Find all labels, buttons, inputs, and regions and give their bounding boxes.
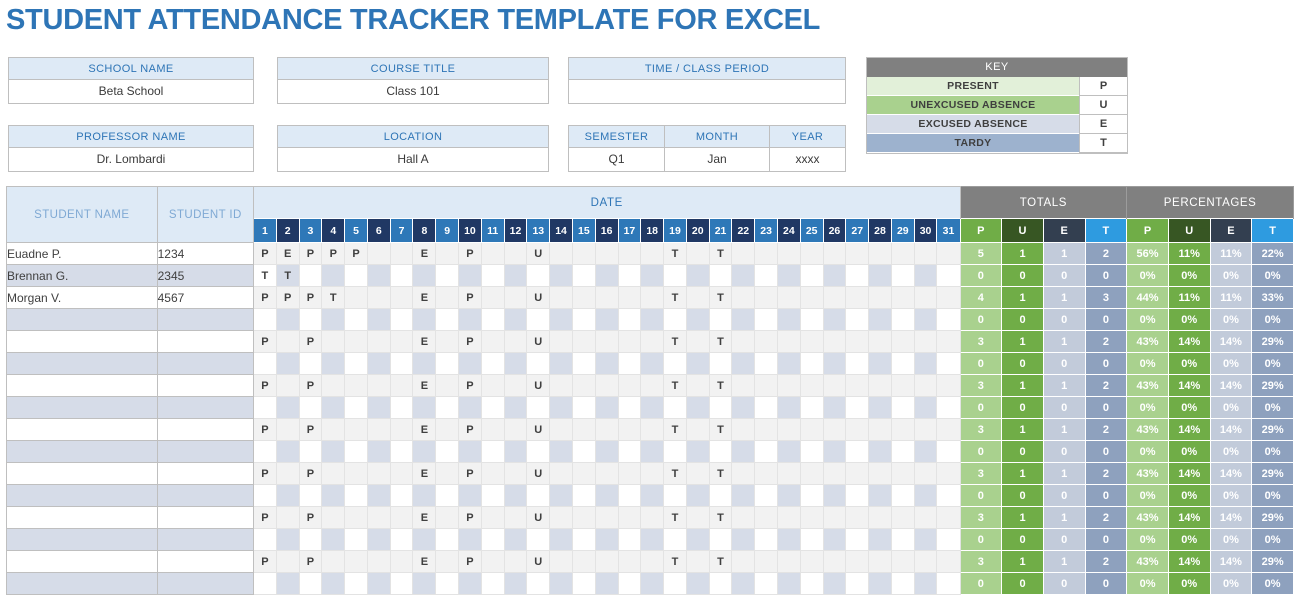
cell-attendance-day-24[interactable]	[777, 309, 800, 331]
cell-attendance-day-7[interactable]	[390, 507, 413, 529]
cell-attendance-day-30[interactable]	[914, 309, 937, 331]
cell-student-id[interactable]: 1234	[157, 243, 253, 265]
cell-attendance-day-27[interactable]	[846, 419, 869, 441]
cell-student-name[interactable]	[7, 485, 158, 507]
cell-attendance-day-13[interactable]: U	[527, 507, 550, 529]
cell-student-id[interactable]	[157, 419, 253, 441]
cell-attendance-day-16[interactable]	[595, 375, 618, 397]
cell-attendance-day-3[interactable]	[299, 485, 322, 507]
cell-attendance-day-6[interactable]	[367, 397, 390, 419]
cell-attendance-day-25[interactable]	[800, 397, 823, 419]
cell-attendance-day-20[interactable]	[686, 331, 709, 353]
cell-attendance-day-23[interactable]	[755, 265, 778, 287]
cell-attendance-day-22[interactable]	[732, 507, 755, 529]
cell-attendance-day-6[interactable]	[367, 309, 390, 331]
cell-attendance-day-30[interactable]	[914, 551, 937, 573]
cell-attendance-day-23[interactable]	[755, 419, 778, 441]
cell-attendance-day-22[interactable]	[732, 463, 755, 485]
cell-attendance-day-10[interactable]	[459, 353, 482, 375]
cell-attendance-day-21[interactable]	[709, 573, 732, 595]
cell-attendance-day-20[interactable]	[686, 419, 709, 441]
cell-attendance-day-22[interactable]	[732, 529, 755, 551]
cell-attendance-day-15[interactable]	[572, 331, 595, 353]
cell-attendance-day-16[interactable]	[595, 243, 618, 265]
cell-attendance-day-2[interactable]	[276, 331, 299, 353]
cell-attendance-day-25[interactable]	[800, 485, 823, 507]
cell-attendance-day-19[interactable]	[664, 485, 687, 507]
cell-attendance-day-19[interactable]: T	[664, 507, 687, 529]
cell-attendance-day-31[interactable]	[937, 419, 960, 441]
cell-attendance-day-21[interactable]: T	[709, 507, 732, 529]
cell-attendance-day-3[interactable]: P	[299, 419, 322, 441]
cell-attendance-day-24[interactable]	[777, 463, 800, 485]
cell-attendance-day-7[interactable]	[390, 265, 413, 287]
cell-attendance-day-19[interactable]	[664, 397, 687, 419]
cell-attendance-day-8[interactable]	[413, 309, 436, 331]
cell-attendance-day-18[interactable]	[641, 331, 664, 353]
cell-attendance-day-9[interactable]	[436, 441, 459, 463]
cell-attendance-day-23[interactable]	[755, 507, 778, 529]
field-school-name-value[interactable]: Beta School	[9, 80, 253, 103]
cell-attendance-day-21[interactable]: T	[709, 419, 732, 441]
cell-attendance-day-19[interactable]: T	[664, 551, 687, 573]
cell-attendance-day-18[interactable]	[641, 309, 664, 331]
cell-attendance-day-29[interactable]	[891, 529, 914, 551]
cell-attendance-day-15[interactable]	[572, 375, 595, 397]
cell-attendance-day-7[interactable]	[390, 243, 413, 265]
cell-attendance-day-31[interactable]	[937, 265, 960, 287]
cell-attendance-day-24[interactable]	[777, 485, 800, 507]
cell-attendance-day-25[interactable]	[800, 507, 823, 529]
cell-attendance-day-26[interactable]	[823, 441, 846, 463]
cell-attendance-day-3[interactable]: P	[299, 375, 322, 397]
cell-attendance-day-20[interactable]	[686, 551, 709, 573]
cell-attendance-day-26[interactable]	[823, 485, 846, 507]
cell-attendance-day-28[interactable]	[869, 309, 892, 331]
cell-attendance-day-16[interactable]	[595, 507, 618, 529]
cell-attendance-day-24[interactable]	[777, 529, 800, 551]
cell-attendance-day-21[interactable]	[709, 441, 732, 463]
cell-attendance-day-17[interactable]	[618, 419, 641, 441]
cell-attendance-day-24[interactable]	[777, 441, 800, 463]
cell-attendance-day-2[interactable]	[276, 485, 299, 507]
cell-attendance-day-15[interactable]	[572, 551, 595, 573]
cell-attendance-day-22[interactable]	[732, 573, 755, 595]
cell-attendance-day-27[interactable]	[846, 551, 869, 573]
cell-attendance-day-11[interactable]	[481, 265, 504, 287]
cell-attendance-day-20[interactable]	[686, 353, 709, 375]
cell-attendance-day-3[interactable]	[299, 309, 322, 331]
cell-attendance-day-23[interactable]	[755, 287, 778, 309]
cell-attendance-day-27[interactable]	[846, 397, 869, 419]
cell-attendance-day-26[interactable]	[823, 573, 846, 595]
cell-attendance-day-22[interactable]	[732, 551, 755, 573]
cell-attendance-day-27[interactable]	[846, 265, 869, 287]
cell-attendance-day-3[interactable]	[299, 573, 322, 595]
cell-attendance-day-15[interactable]	[572, 397, 595, 419]
cell-attendance-day-31[interactable]	[937, 243, 960, 265]
cell-attendance-day-24[interactable]	[777, 353, 800, 375]
cell-student-name[interactable]	[7, 551, 158, 573]
cell-attendance-day-16[interactable]	[595, 265, 618, 287]
cell-attendance-day-20[interactable]	[686, 573, 709, 595]
cell-attendance-day-9[interactable]	[436, 529, 459, 551]
cell-attendance-day-26[interactable]	[823, 265, 846, 287]
cell-attendance-day-7[interactable]	[390, 375, 413, 397]
cell-attendance-day-1[interactable]: P	[254, 507, 277, 529]
cell-attendance-day-20[interactable]	[686, 463, 709, 485]
cell-attendance-day-12[interactable]	[504, 287, 527, 309]
cell-attendance-day-31[interactable]	[937, 353, 960, 375]
cell-attendance-day-11[interactable]	[481, 287, 504, 309]
cell-attendance-day-13[interactable]	[527, 441, 550, 463]
cell-attendance-day-18[interactable]	[641, 287, 664, 309]
cell-attendance-day-8[interactable]: E	[413, 331, 436, 353]
cell-attendance-day-21[interactable]: T	[709, 243, 732, 265]
cell-attendance-day-31[interactable]	[937, 309, 960, 331]
cell-attendance-day-21[interactable]	[709, 529, 732, 551]
field-time-class-period-value[interactable]	[569, 80, 845, 103]
cell-student-id[interactable]: 4567	[157, 287, 253, 309]
cell-attendance-day-20[interactable]	[686, 485, 709, 507]
cell-attendance-day-12[interactable]	[504, 419, 527, 441]
cell-attendance-day-24[interactable]	[777, 375, 800, 397]
cell-student-name[interactable]: Morgan V.	[7, 287, 158, 309]
cell-attendance-day-23[interactable]	[755, 331, 778, 353]
cell-attendance-day-25[interactable]	[800, 551, 823, 573]
cell-attendance-day-12[interactable]	[504, 573, 527, 595]
cell-attendance-day-12[interactable]	[504, 353, 527, 375]
cell-attendance-day-4[interactable]: T	[322, 287, 345, 309]
cell-student-name[interactable]	[7, 353, 158, 375]
cell-attendance-day-10[interactable]: P	[459, 331, 482, 353]
cell-attendance-day-13[interactable]	[527, 397, 550, 419]
cell-attendance-day-18[interactable]	[641, 441, 664, 463]
cell-attendance-day-23[interactable]	[755, 309, 778, 331]
cell-attendance-day-10[interactable]: P	[459, 287, 482, 309]
cell-student-name[interactable]	[7, 507, 158, 529]
cell-attendance-day-13[interactable]: U	[527, 243, 550, 265]
cell-attendance-day-18[interactable]	[641, 353, 664, 375]
cell-student-name[interactable]	[7, 573, 158, 595]
cell-attendance-day-31[interactable]	[937, 331, 960, 353]
cell-student-name[interactable]: Euadne P.	[7, 243, 158, 265]
cell-attendance-day-14[interactable]	[550, 309, 573, 331]
cell-attendance-day-16[interactable]	[595, 287, 618, 309]
cell-attendance-day-6[interactable]	[367, 287, 390, 309]
cell-attendance-day-13[interactable]: U	[527, 331, 550, 353]
cell-attendance-day-9[interactable]	[436, 397, 459, 419]
cell-attendance-day-1[interactable]	[254, 397, 277, 419]
cell-attendance-day-13[interactable]: U	[527, 375, 550, 397]
field-course-title[interactable]: COURSE TITLE Class 101	[277, 57, 549, 104]
cell-attendance-day-31[interactable]	[937, 485, 960, 507]
cell-attendance-day-31[interactable]	[937, 573, 960, 595]
cell-attendance-day-21[interactable]	[709, 265, 732, 287]
cell-attendance-day-11[interactable]	[481, 485, 504, 507]
cell-attendance-day-28[interactable]	[869, 265, 892, 287]
cell-attendance-day-23[interactable]	[755, 375, 778, 397]
cell-attendance-day-30[interactable]	[914, 287, 937, 309]
cell-attendance-day-25[interactable]	[800, 287, 823, 309]
cell-attendance-day-2[interactable]	[276, 441, 299, 463]
cell-attendance-day-5[interactable]	[345, 331, 368, 353]
cell-attendance-day-10[interactable]	[459, 529, 482, 551]
cell-attendance-day-30[interactable]	[914, 463, 937, 485]
cell-attendance-day-21[interactable]: T	[709, 463, 732, 485]
cell-attendance-day-5[interactable]	[345, 485, 368, 507]
cell-student-id[interactable]	[157, 441, 253, 463]
cell-attendance-day-27[interactable]	[846, 441, 869, 463]
cell-attendance-day-15[interactable]	[572, 485, 595, 507]
cell-attendance-day-25[interactable]	[800, 375, 823, 397]
cell-attendance-day-7[interactable]	[390, 573, 413, 595]
cell-attendance-day-23[interactable]	[755, 353, 778, 375]
cell-student-id[interactable]	[157, 309, 253, 331]
cell-attendance-day-19[interactable]: T	[664, 375, 687, 397]
cell-attendance-day-4[interactable]	[322, 573, 345, 595]
cell-attendance-day-20[interactable]	[686, 507, 709, 529]
cell-attendance-day-17[interactable]	[618, 507, 641, 529]
cell-attendance-day-28[interactable]	[869, 463, 892, 485]
cell-attendance-day-20[interactable]	[686, 243, 709, 265]
cell-attendance-day-19[interactable]	[664, 353, 687, 375]
cell-attendance-day-4[interactable]	[322, 507, 345, 529]
cell-attendance-day-30[interactable]	[914, 485, 937, 507]
cell-attendance-day-27[interactable]	[846, 287, 869, 309]
cell-attendance-day-16[interactable]	[595, 397, 618, 419]
cell-attendance-day-11[interactable]	[481, 573, 504, 595]
cell-attendance-day-12[interactable]	[504, 243, 527, 265]
cell-student-id[interactable]: 2345	[157, 265, 253, 287]
cell-attendance-day-28[interactable]	[869, 397, 892, 419]
field-month-value[interactable]: Jan	[665, 148, 769, 171]
cell-student-id[interactable]	[157, 331, 253, 353]
field-location[interactable]: LOCATION Hall A	[277, 125, 549, 172]
cell-attendance-day-22[interactable]	[732, 441, 755, 463]
cell-student-id[interactable]	[157, 485, 253, 507]
cell-attendance-day-6[interactable]	[367, 441, 390, 463]
cell-attendance-day-2[interactable]: P	[276, 287, 299, 309]
cell-attendance-day-25[interactable]	[800, 529, 823, 551]
cell-attendance-day-19[interactable]: T	[664, 419, 687, 441]
cell-attendance-day-11[interactable]	[481, 309, 504, 331]
cell-attendance-day-14[interactable]	[550, 287, 573, 309]
cell-attendance-day-8[interactable]: E	[413, 463, 436, 485]
cell-attendance-day-6[interactable]	[367, 529, 390, 551]
cell-attendance-day-16[interactable]	[595, 573, 618, 595]
cell-attendance-day-24[interactable]	[777, 287, 800, 309]
cell-attendance-day-6[interactable]	[367, 551, 390, 573]
cell-attendance-day-2[interactable]	[276, 397, 299, 419]
cell-attendance-day-25[interactable]	[800, 265, 823, 287]
cell-attendance-day-8[interactable]	[413, 529, 436, 551]
cell-attendance-day-24[interactable]	[777, 397, 800, 419]
cell-attendance-day-9[interactable]	[436, 507, 459, 529]
cell-attendance-day-26[interactable]	[823, 551, 846, 573]
cell-attendance-day-4[interactable]	[322, 551, 345, 573]
cell-attendance-day-26[interactable]	[823, 463, 846, 485]
cell-attendance-day-2[interactable]	[276, 529, 299, 551]
cell-attendance-day-1[interactable]	[254, 529, 277, 551]
cell-attendance-day-16[interactable]	[595, 485, 618, 507]
cell-attendance-day-20[interactable]	[686, 397, 709, 419]
cell-attendance-day-30[interactable]	[914, 243, 937, 265]
cell-attendance-day-19[interactable]: T	[664, 243, 687, 265]
cell-attendance-day-5[interactable]	[345, 419, 368, 441]
cell-attendance-day-28[interactable]	[869, 287, 892, 309]
cell-attendance-day-29[interactable]	[891, 551, 914, 573]
cell-attendance-day-3[interactable]: P	[299, 287, 322, 309]
cell-attendance-day-8[interactable]: E	[413, 243, 436, 265]
cell-attendance-day-9[interactable]	[436, 551, 459, 573]
cell-attendance-day-6[interactable]	[367, 463, 390, 485]
cell-attendance-day-20[interactable]	[686, 529, 709, 551]
cell-attendance-day-8[interactable]: E	[413, 419, 436, 441]
cell-attendance-day-1[interactable]: P	[254, 463, 277, 485]
cell-attendance-day-2[interactable]: E	[276, 243, 299, 265]
cell-attendance-day-2[interactable]	[276, 507, 299, 529]
cell-attendance-day-25[interactable]	[800, 243, 823, 265]
cell-attendance-day-26[interactable]	[823, 507, 846, 529]
cell-attendance-day-29[interactable]	[891, 331, 914, 353]
cell-attendance-day-13[interactable]	[527, 573, 550, 595]
cell-attendance-day-3[interactable]	[299, 265, 322, 287]
cell-attendance-day-3[interactable]: P	[299, 551, 322, 573]
cell-attendance-day-30[interactable]	[914, 397, 937, 419]
cell-attendance-day-25[interactable]	[800, 309, 823, 331]
field-school-name[interactable]: SCHOOL NAME Beta School	[8, 57, 254, 104]
cell-attendance-day-13[interactable]	[527, 529, 550, 551]
cell-attendance-day-5[interactable]	[345, 463, 368, 485]
cell-attendance-day-13[interactable]	[527, 485, 550, 507]
cell-attendance-day-19[interactable]	[664, 529, 687, 551]
cell-attendance-day-31[interactable]	[937, 463, 960, 485]
cell-attendance-day-6[interactable]	[367, 375, 390, 397]
cell-attendance-day-3[interactable]: P	[299, 331, 322, 353]
cell-attendance-day-2[interactable]: T	[276, 265, 299, 287]
cell-attendance-day-14[interactable]	[550, 353, 573, 375]
cell-attendance-day-22[interactable]	[732, 243, 755, 265]
cell-attendance-day-24[interactable]	[777, 243, 800, 265]
cell-attendance-day-18[interactable]	[641, 463, 664, 485]
cell-attendance-day-29[interactable]	[891, 309, 914, 331]
cell-attendance-day-21[interactable]	[709, 353, 732, 375]
cell-attendance-day-11[interactable]	[481, 419, 504, 441]
cell-attendance-day-7[interactable]	[390, 419, 413, 441]
cell-attendance-day-14[interactable]	[550, 485, 573, 507]
cell-attendance-day-8[interactable]: E	[413, 287, 436, 309]
cell-attendance-day-20[interactable]	[686, 309, 709, 331]
field-professor-name-value[interactable]: Dr. Lombardi	[9, 148, 253, 171]
cell-attendance-day-22[interactable]	[732, 331, 755, 353]
cell-attendance-day-21[interactable]: T	[709, 375, 732, 397]
cell-attendance-day-30[interactable]	[914, 375, 937, 397]
cell-attendance-day-29[interactable]	[891, 441, 914, 463]
cell-attendance-day-19[interactable]	[664, 309, 687, 331]
cell-attendance-day-28[interactable]	[869, 507, 892, 529]
cell-attendance-day-16[interactable]	[595, 419, 618, 441]
cell-attendance-day-9[interactable]	[436, 287, 459, 309]
cell-attendance-day-31[interactable]	[937, 397, 960, 419]
cell-attendance-day-29[interactable]	[891, 463, 914, 485]
cell-attendance-day-18[interactable]	[641, 551, 664, 573]
cell-attendance-day-31[interactable]	[937, 375, 960, 397]
cell-attendance-day-17[interactable]	[618, 441, 641, 463]
cell-attendance-day-12[interactable]	[504, 551, 527, 573]
cell-attendance-day-14[interactable]	[550, 397, 573, 419]
cell-attendance-day-7[interactable]	[390, 551, 413, 573]
cell-attendance-day-8[interactable]: E	[413, 375, 436, 397]
cell-attendance-day-26[interactable]	[823, 353, 846, 375]
cell-attendance-day-8[interactable]	[413, 397, 436, 419]
cell-attendance-day-19[interactable]: T	[664, 331, 687, 353]
cell-attendance-day-23[interactable]	[755, 551, 778, 573]
cell-attendance-day-4[interactable]	[322, 485, 345, 507]
cell-attendance-day-24[interactable]	[777, 419, 800, 441]
cell-attendance-day-16[interactable]	[595, 353, 618, 375]
cell-attendance-day-28[interactable]	[869, 353, 892, 375]
cell-attendance-day-9[interactable]	[436, 463, 459, 485]
cell-student-id[interactable]	[157, 397, 253, 419]
cell-attendance-day-8[interactable]	[413, 353, 436, 375]
cell-attendance-day-30[interactable]	[914, 441, 937, 463]
cell-attendance-day-27[interactable]	[846, 529, 869, 551]
cell-attendance-day-1[interactable]	[254, 353, 277, 375]
cell-attendance-day-22[interactable]	[732, 287, 755, 309]
field-course-title-value[interactable]: Class 101	[278, 80, 548, 103]
cell-attendance-day-2[interactable]	[276, 463, 299, 485]
cell-attendance-day-19[interactable]: T	[664, 463, 687, 485]
cell-attendance-day-7[interactable]	[390, 309, 413, 331]
cell-student-name[interactable]	[7, 463, 158, 485]
cell-attendance-day-5[interactable]	[345, 265, 368, 287]
cell-attendance-day-24[interactable]	[777, 265, 800, 287]
cell-attendance-day-14[interactable]	[550, 507, 573, 529]
cell-attendance-day-30[interactable]	[914, 419, 937, 441]
cell-attendance-day-14[interactable]	[550, 419, 573, 441]
cell-attendance-day-7[interactable]	[390, 397, 413, 419]
cell-attendance-day-1[interactable]	[254, 309, 277, 331]
cell-attendance-day-28[interactable]	[869, 573, 892, 595]
cell-attendance-day-1[interactable]	[254, 485, 277, 507]
cell-attendance-day-29[interactable]	[891, 419, 914, 441]
cell-attendance-day-30[interactable]	[914, 529, 937, 551]
cell-attendance-day-1[interactable]: P	[254, 243, 277, 265]
cell-attendance-day-18[interactable]	[641, 243, 664, 265]
cell-attendance-day-1[interactable]: P	[254, 419, 277, 441]
cell-attendance-day-1[interactable]: P	[254, 287, 277, 309]
cell-attendance-day-18[interactable]	[641, 507, 664, 529]
cell-attendance-day-11[interactable]	[481, 441, 504, 463]
field-year-value[interactable]: xxxx	[770, 148, 845, 171]
cell-attendance-day-4[interactable]	[322, 419, 345, 441]
cell-attendance-day-30[interactable]	[914, 507, 937, 529]
cell-attendance-day-4[interactable]	[322, 265, 345, 287]
cell-attendance-day-10[interactable]	[459, 573, 482, 595]
cell-attendance-day-4[interactable]	[322, 441, 345, 463]
cell-attendance-day-11[interactable]	[481, 353, 504, 375]
cell-attendance-day-17[interactable]	[618, 287, 641, 309]
cell-attendance-day-28[interactable]	[869, 551, 892, 573]
cell-attendance-day-2[interactable]	[276, 375, 299, 397]
cell-attendance-day-30[interactable]	[914, 573, 937, 595]
cell-attendance-day-5[interactable]	[345, 309, 368, 331]
cell-student-name[interactable]	[7, 331, 158, 353]
cell-attendance-day-18[interactable]	[641, 397, 664, 419]
cell-attendance-day-12[interactable]	[504, 485, 527, 507]
cell-attendance-day-5[interactable]	[345, 375, 368, 397]
